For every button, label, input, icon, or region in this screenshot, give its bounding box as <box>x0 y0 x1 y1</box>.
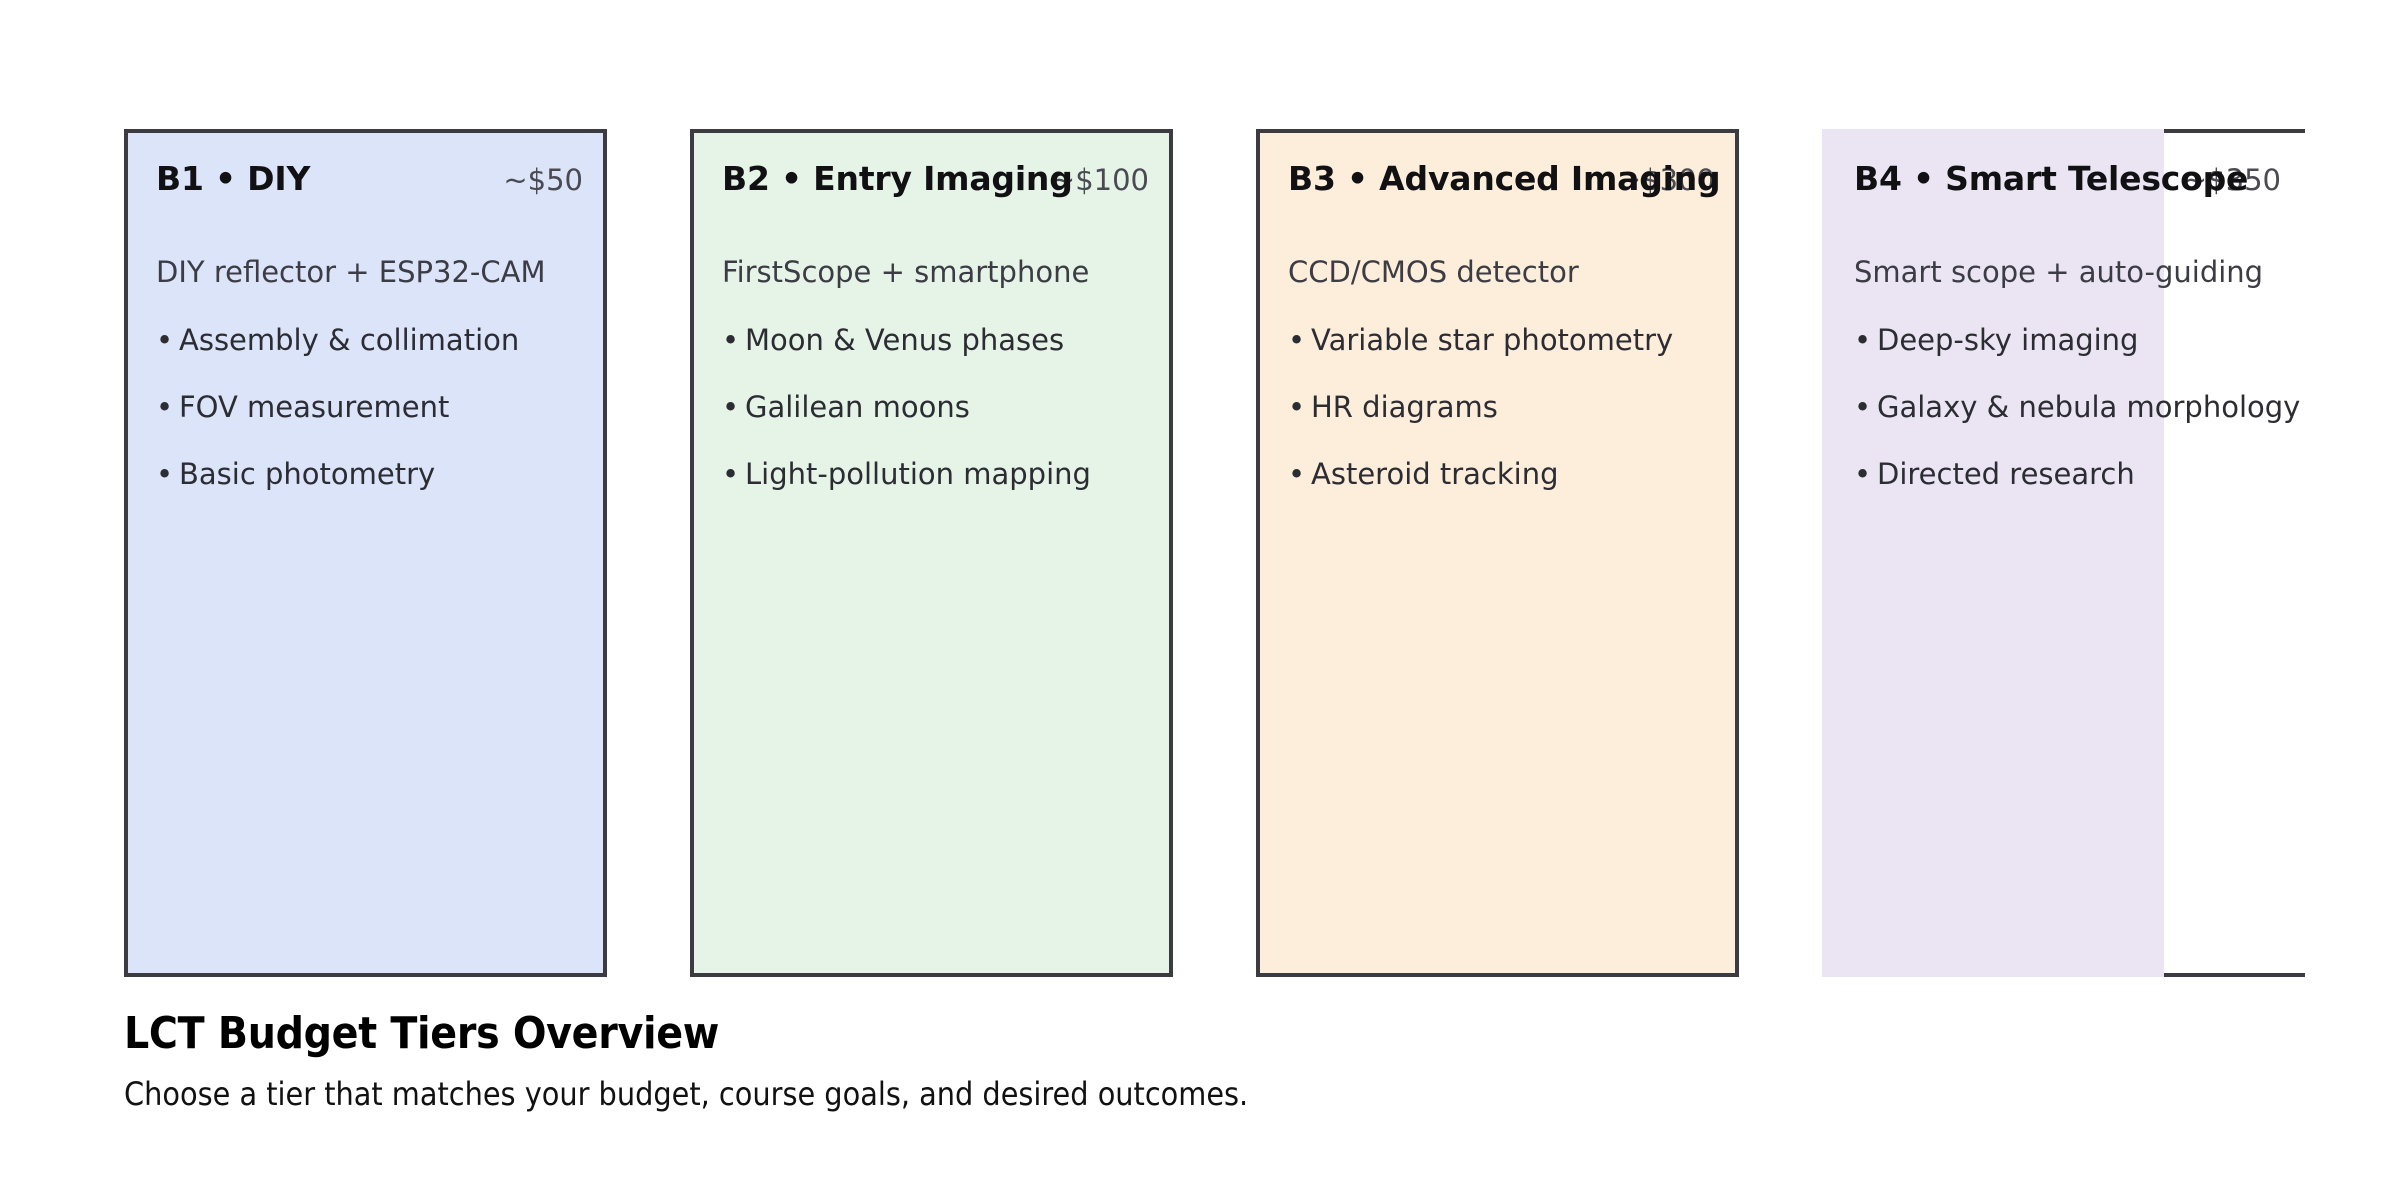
list-item: • Assembly & collimation <box>156 323 575 357</box>
list-item: • Directed research <box>1854 457 2277 491</box>
list-item-label: Galaxy & nebula morphology <box>1877 390 2300 424</box>
caption-block: LCT Budget Tiers Overview Choose a tier … <box>124 1008 2224 1113</box>
tier-card-b4-subtitle: Smart scope + auto-guiding <box>1854 255 2277 289</box>
list-item-label: Directed research <box>1877 457 2135 491</box>
list-item-label: FOV measurement <box>179 390 449 424</box>
tier-card-b3[interactable]: B3 • Advanced Imaging ~$300 CCD/CMOS det… <box>1256 129 1739 977</box>
budget-tiers-page: B1 • DIY ~$50 DIY reflector + ESP32-CAM … <box>0 0 2400 1200</box>
tier-card-b1-bullet-list: • Assembly & collimation • FOV measureme… <box>156 323 575 491</box>
bullet-dot-icon: • <box>1854 323 1877 357</box>
list-item-label: Galilean moons <box>745 390 970 424</box>
bullet-dot-icon: • <box>1288 457 1311 491</box>
bullet-dot-icon: • <box>156 323 179 357</box>
bullet-dot-icon: • <box>722 390 745 424</box>
bullet-dot-icon: • <box>1854 457 1877 491</box>
bullet-dot-icon: • <box>722 457 745 491</box>
list-item: • Basic photometry <box>156 457 575 491</box>
tier-card-b1[interactable]: B1 • DIY ~$50 DIY reflector + ESP32-CAM … <box>124 129 607 977</box>
bullet-dot-icon: • <box>1288 323 1311 357</box>
page-title: LCT Budget Tiers Overview <box>124 1008 2224 1059</box>
list-item: • Deep-sky imaging <box>1854 323 2277 357</box>
tier-card-b1-subtitle: DIY reflector + ESP32-CAM <box>156 255 575 289</box>
list-item: • FOV measurement <box>156 390 575 424</box>
list-item-label: Basic photometry <box>179 457 435 491</box>
tier-card-b2-subtitle: FirstScope + smartphone <box>722 255 1141 289</box>
list-item-label: HR diagrams <box>1311 390 1498 424</box>
list-item: • Moon & Venus phases <box>722 323 1141 357</box>
page-subtitle: Choose a tier that matches your budget, … <box>124 1075 2224 1113</box>
list-item-label: Variable star photometry <box>1311 323 1673 357</box>
list-item-label: Deep-sky imaging <box>1877 323 2138 357</box>
bullet-dot-icon: • <box>722 323 745 357</box>
list-item-label: Light-pollution mapping <box>745 457 1091 491</box>
tier-card-b2-title: B2 • Entry Imaging <box>722 159 1073 198</box>
tier-card-b1-title: B1 • DIY <box>156 159 310 198</box>
tier-card-b2-header: B2 • Entry Imaging ~$100 <box>722 159 1149 213</box>
tier-card-b4[interactable]: B4 • Smart Telescope ~$350 Smart scope +… <box>1822 129 2305 977</box>
list-item: • HR diagrams <box>1288 390 1707 424</box>
tier-card-b2[interactable]: B2 • Entry Imaging ~$100 FirstScope + sm… <box>690 129 1173 977</box>
tier-card-b3-bullet-list: • Variable star photometry • HR diagrams… <box>1288 323 1707 491</box>
tier-card-b4-header: B4 • Smart Telescope ~$350 <box>1854 159 2281 213</box>
tier-card-b3-subtitle: CCD/CMOS detector <box>1288 255 1707 289</box>
list-item-label: Moon & Venus phases <box>745 323 1064 357</box>
tier-card-b4-bullet-list: • Deep-sky imaging • Galaxy & nebula mor… <box>1854 323 2277 491</box>
list-item-label: Asteroid tracking <box>1311 457 1559 491</box>
list-item: • Asteroid tracking <box>1288 457 1707 491</box>
bullet-dot-icon: • <box>156 390 179 424</box>
bullet-dot-icon: • <box>1288 390 1311 424</box>
tier-cards-rail: B1 • DIY ~$50 DIY reflector + ESP32-CAM … <box>124 129 2400 977</box>
tier-card-b3-title: B3 • Advanced Imaging <box>1288 159 1720 198</box>
list-item-label: Assembly & collimation <box>179 323 519 357</box>
tier-card-b1-price: ~$50 <box>503 163 583 197</box>
list-item: • Galaxy & nebula morphology <box>1854 390 2277 424</box>
tier-card-b1-header: B1 • DIY ~$50 <box>156 159 583 213</box>
list-item: • Galilean moons <box>722 390 1141 424</box>
bullet-dot-icon: • <box>156 457 179 491</box>
tier-card-b3-header: B3 • Advanced Imaging ~$300 <box>1288 159 1715 213</box>
list-item: • Light-pollution mapping <box>722 457 1141 491</box>
tier-card-b2-bullet-list: • Moon & Venus phases • Galilean moons •… <box>722 323 1141 491</box>
tier-card-b4-title: B4 • Smart Telescope <box>1854 159 2248 198</box>
list-item: • Variable star photometry <box>1288 323 1707 357</box>
bullet-dot-icon: • <box>1854 390 1877 424</box>
